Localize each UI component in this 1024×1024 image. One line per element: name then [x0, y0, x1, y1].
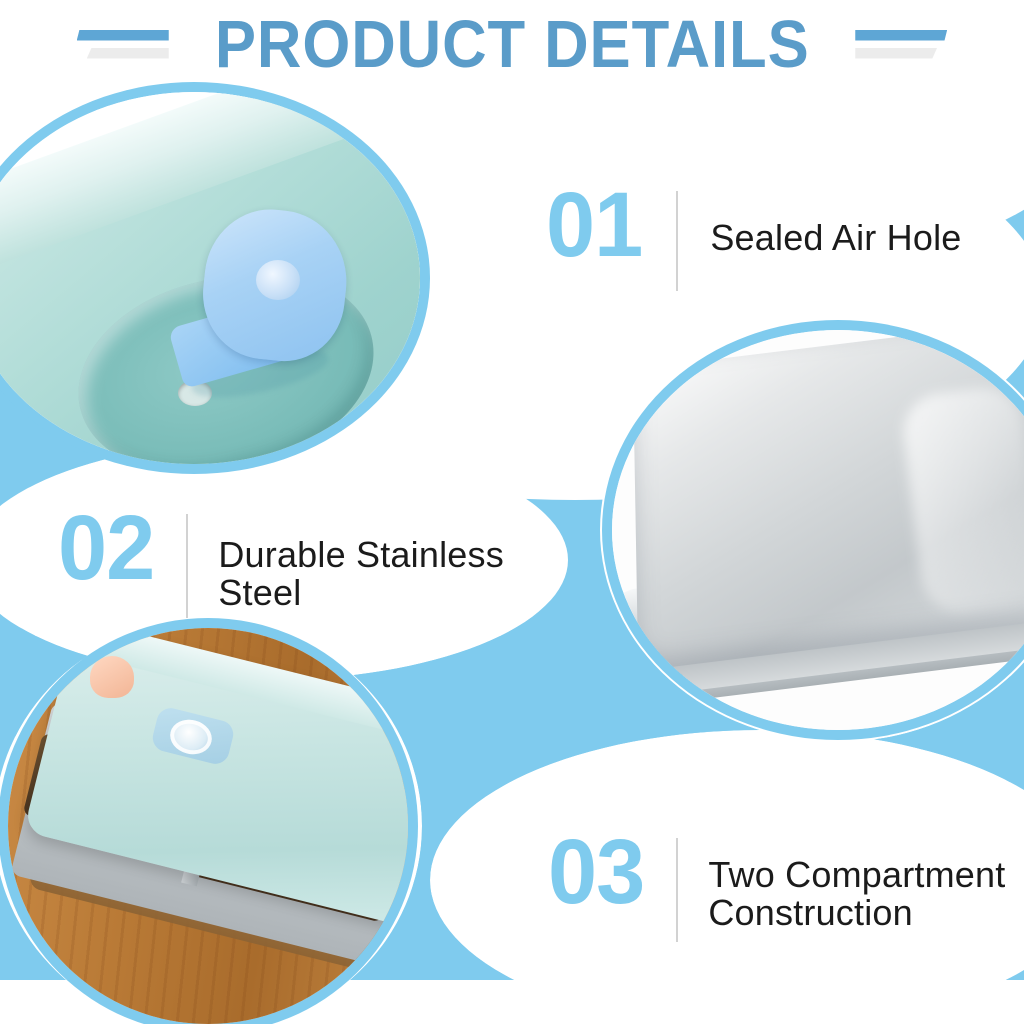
- feature-divider: [186, 514, 188, 618]
- valve-knob: [256, 260, 300, 300]
- feature-divider: [676, 838, 678, 942]
- feature-photo-stainless-steel: [612, 330, 1024, 730]
- feature-label: Sealed Air Hole: [710, 219, 961, 257]
- feature-label: Durable Stainless Steel: [218, 536, 504, 612]
- deco-bar-gray: [855, 48, 937, 59]
- feature-number: 02: [58, 506, 154, 591]
- feature-item-01: 01 Sealed Air Hole: [546, 183, 962, 295]
- feature-photo-sealed-air-hole: [0, 92, 420, 464]
- deco-bar-gray: [87, 48, 169, 59]
- feature-divider: [676, 191, 678, 291]
- header-decoration-right-icon: [855, 30, 947, 59]
- feature-label: Two Compartment Construction: [708, 856, 1005, 932]
- feature-number: 01: [546, 183, 642, 268]
- finger: [90, 656, 134, 698]
- header-decoration-left-icon: [77, 30, 169, 59]
- page-title: PRODUCT DETAILS: [215, 6, 810, 83]
- feature-number: 03: [548, 830, 644, 915]
- page-header: PRODUCT DETAILS: [0, 0, 1024, 88]
- deco-bar-blue: [77, 30, 169, 41]
- deco-bar-blue: [855, 30, 947, 41]
- feature-item-03: 03 Two Compartment Construction: [548, 830, 1005, 946]
- feature-item-02: 02 Durable Stainless Steel: [58, 506, 504, 622]
- feature-photo-two-compartment: [8, 628, 408, 1024]
